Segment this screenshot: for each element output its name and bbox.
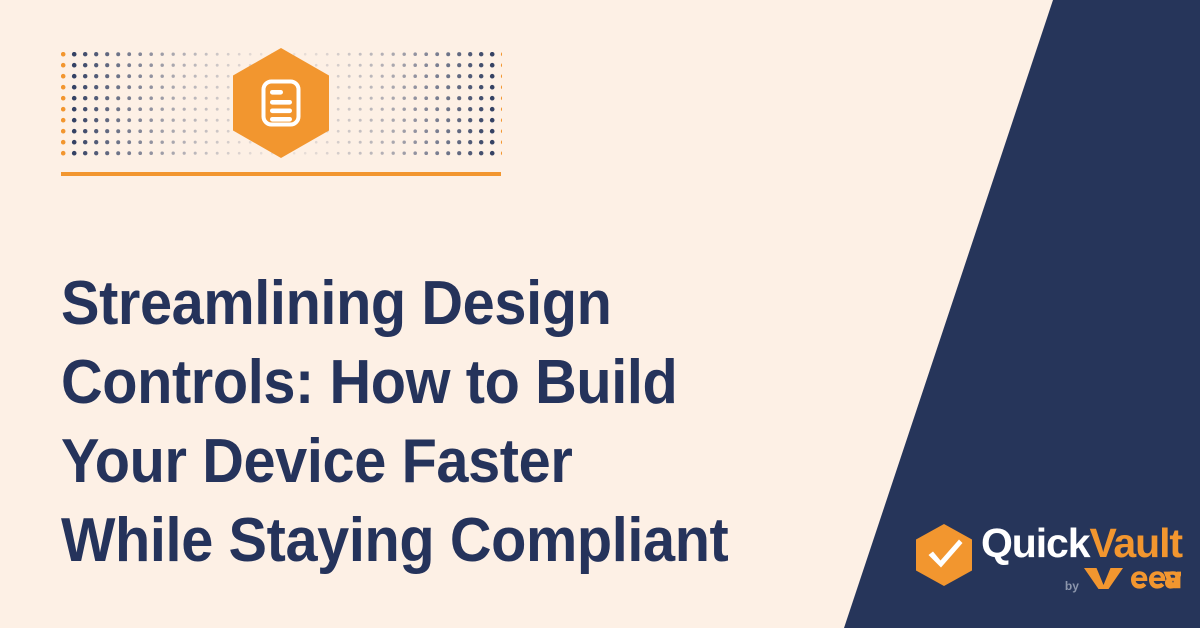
logo-byline: by [1065,565,1181,595]
logo-wordmark-vault: Vault [1089,520,1181,566]
logo-byline-prefix: by [1065,580,1079,593]
social-card: Streamlining Design Controls: How to Bui… [0,0,1200,628]
quickvault-logo[interactable]: QuickVault by [916,521,1182,595]
headline-line-2: Controls: How to Build [61,343,805,422]
headline-line-1: Streamlining Design [61,264,805,343]
document-hexagon-icon [233,48,329,158]
orange-divider-rule [61,172,501,176]
headline-line-3: Your Device Faster [61,422,805,501]
logo-wordmark-quick: Quick [981,520,1089,566]
headline-line-4: While Staying Compliant [61,501,805,580]
check-hexagon-icon [916,524,972,586]
logo-wordmark: QuickVault [981,521,1182,566]
page-title: Streamlining Design Controls: How to Bui… [61,264,805,580]
logo-text-block: QuickVault by [981,521,1182,595]
veeva-logotype [1083,565,1181,595]
